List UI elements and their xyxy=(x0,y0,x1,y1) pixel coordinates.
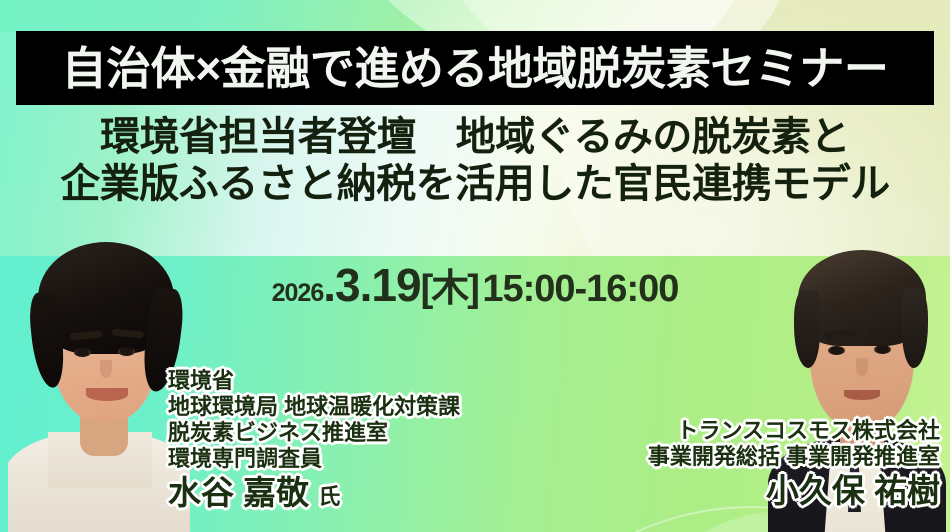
left-speaker-name-suffix: 氏 xyxy=(318,484,340,509)
left-speaker-title: 環境専門調査員 xyxy=(168,446,460,472)
date-time-line: 2026.3.19[木] 15:00-16:00 xyxy=(0,262,950,308)
left-speaker-eye-left xyxy=(74,348,91,357)
right-speaker-mouth xyxy=(844,390,880,400)
banner-subtitle: 環境省担当者登壇 地域ぐるみの脱炭素と 企業版ふるさと納税を活用した官民連携モデ… xyxy=(0,114,950,208)
right-speaker-org: トランスコスモス株式会社 xyxy=(648,418,940,444)
left-speaker-info: 環境省 地球環境局 地球温暖化対策課 脱炭素ビジネス推進室 環境専門調査員 水谷… xyxy=(168,368,460,513)
title-bar: 自治体×金融で進める地域脱炭素セミナー xyxy=(16,31,934,105)
right-speaker-info: トランスコスモス株式会社 事業開発総括 事業開発推進室 小久保 祐樹 xyxy=(648,418,940,511)
right-speaker-name: 小久保 祐樹 xyxy=(648,470,940,511)
left-speaker-mouth xyxy=(86,388,128,401)
subtitle-line-1: 環境省担当者登壇 地域ぐるみの脱炭素と xyxy=(0,114,950,161)
left-speaker-name-row: 水谷 嘉敬 氏 xyxy=(168,472,460,513)
left-speaker-dept2: 脱炭素ビジネス推進室 xyxy=(168,420,460,446)
left-speaker-name: 水谷 嘉敬 xyxy=(168,474,309,511)
date-time: 15:00-16:00 xyxy=(482,268,678,310)
date-year: 2026 xyxy=(272,279,324,307)
date-month-day: 3.19 xyxy=(335,259,421,311)
date-weekday: [木] xyxy=(421,268,478,310)
banner-title: 自治体×金融で進める地域脱炭素セミナー xyxy=(62,46,889,91)
right-speaker-eye-right xyxy=(874,345,891,354)
left-speaker-org: 環境省 xyxy=(168,368,460,394)
right-speaker-eye-left xyxy=(828,346,845,355)
left-speaker-nose xyxy=(100,360,112,378)
left-speaker-dept1: 地球環境局 地球温暖化対策課 xyxy=(168,394,460,420)
right-speaker-dept1: 事業開発総括 事業開発推進室 xyxy=(648,444,940,470)
left-speaker-eye-right xyxy=(118,347,135,356)
date-dot: . xyxy=(323,259,335,311)
seminar-banner: 自治体×金融で進める地域脱炭素セミナー 環境省担当者登壇 地域ぐるみの脱炭素と … xyxy=(0,0,950,532)
subtitle-line-2: 企業版ふるさと納税を活用した官民連携モデル xyxy=(0,161,950,208)
right-speaker-nose xyxy=(856,358,868,376)
